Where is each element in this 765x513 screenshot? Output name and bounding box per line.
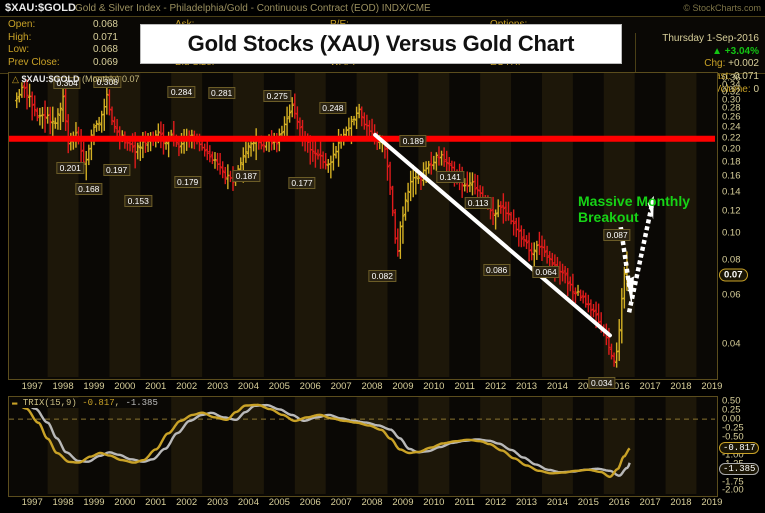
data-label: 0.179: [174, 176, 201, 188]
x-tick-label: 2008: [361, 381, 382, 392]
y-tick-label: 0.10: [722, 228, 741, 239]
x-tick-label: 2004: [238, 381, 259, 392]
data-label: 0.281: [208, 87, 235, 99]
x-tick-label: 2013: [516, 497, 537, 508]
y-tick-label: 0.04: [722, 339, 741, 350]
x-tick-label: 2017: [640, 381, 661, 392]
x-tick-label: 2016: [609, 497, 630, 508]
quote-row: Low:0.068: [8, 44, 118, 57]
data-label: 0.034: [588, 377, 615, 389]
chart-header: $XAU:$GOLD Gold & Silver Index - Philade…: [0, 0, 765, 16]
x-tick-label: 1998: [52, 497, 73, 508]
x-tick-label: 2012: [485, 497, 506, 508]
x-tick-label: 2015: [578, 497, 599, 508]
plot-label-symbol: $XAU:$GOLD: [21, 74, 79, 84]
x-tick-label: 2007: [331, 497, 352, 508]
x-tick-label: 2005: [269, 381, 290, 392]
x-tick-label: 2010: [423, 497, 444, 508]
quote-label: Low:: [8, 44, 74, 57]
x-tick-label: 2014: [547, 381, 568, 392]
quote-row: Prev Close:0.069: [8, 57, 118, 70]
y-tick-label: 0.14: [722, 187, 741, 198]
x-tick-label: 2007: [331, 381, 352, 392]
stockcharts-screenshot: $XAU:$GOLD Gold & Silver Index - Philade…: [0, 0, 765, 513]
data-label: 0.153: [125, 195, 152, 207]
quote-value: 0.071: [74, 32, 118, 45]
title-banner: Gold Stocks (XAU) Versus Gold Chart: [140, 24, 622, 64]
trix-y-tick-label: -2.00: [722, 485, 744, 496]
quote-value: 0.068: [74, 44, 118, 57]
x-tick-label: 2000: [114, 497, 135, 508]
data-label: 0.086: [483, 264, 510, 276]
percent-change: +3.04%: [725, 46, 759, 57]
trix-y-tick-label: -0.50: [722, 431, 744, 442]
data-label: 0.141: [437, 171, 464, 183]
y-tick-label: 0.06: [722, 290, 741, 301]
price-y-axis: 0.360.340.320.300.280.260.240.220.200.18…: [722, 72, 764, 378]
data-label: 0.087: [603, 229, 630, 241]
x-tick-label: 2003: [207, 497, 228, 508]
x-tick-label: 2018: [670, 497, 691, 508]
title-banner-text: Gold Stocks (XAU) Versus Gold Chart: [188, 31, 575, 57]
trix-value-2: -1.385: [125, 398, 157, 408]
x-tick-label: 1997: [22, 497, 43, 508]
y-tick-label: 0.12: [722, 206, 741, 217]
quote-row: High:0.071: [8, 32, 118, 45]
data-label: 0.248: [319, 102, 346, 114]
x-tick-label: 2010: [423, 381, 444, 392]
up-arrow-icon: ▲: [712, 46, 722, 57]
price-candles-svg: [9, 73, 715, 377]
price-chart-pane[interactable]: △ $XAU:$GOLD (Monthly) 0.07 0.3040.2010.…: [8, 72, 718, 380]
plot-label: △ $XAU:$GOLD (Monthly) 0.07: [12, 74, 140, 85]
x-tick-label: 2000: [114, 381, 135, 392]
breakout-annotation-line2: Breakout: [578, 209, 690, 225]
y-tick-label: 0.20: [722, 144, 741, 155]
x-tick-label: 1997: [22, 381, 43, 392]
trix-label: ▬ TRIX(15,9) -0.817, -1.385: [12, 398, 161, 408]
header-symbol: $XAU:$GOLD: [5, 2, 76, 14]
header-description: Gold & Silver Index - Philadelphia/Gold …: [75, 3, 431, 14]
quote-label: High:: [8, 32, 74, 45]
x-tick-label: 2013: [516, 381, 537, 392]
quote-column-1: Open:0.068High:0.071Low:0.068Prev Close:…: [8, 19, 118, 69]
x-tick-label: 1999: [83, 381, 104, 392]
data-label: 0.082: [369, 270, 396, 282]
data-label: 0.189: [400, 135, 427, 147]
x-tick-label: 2005: [269, 497, 290, 508]
data-label: 0.064: [532, 266, 559, 278]
x-tick-label: 2008: [361, 497, 382, 508]
plot-label-rest: (Monthly) 0.07: [82, 74, 140, 84]
trix-value-badge-2: -1.385: [719, 463, 759, 475]
x-tick-label: 1998: [52, 381, 73, 392]
trix-indicator-pane[interactable]: ▬ TRIX(15,9) -0.817, -1.385: [8, 396, 718, 497]
y-tick-label: 0.24: [722, 122, 741, 133]
x-tick-label: 2006: [300, 381, 321, 392]
x-tick-label: 2006: [300, 497, 321, 508]
breakout-annotation-line1: Massive Monthly: [578, 193, 690, 209]
x-tick-label: 2001: [145, 497, 166, 508]
breakout-annotation: Massive Monthly Breakout: [578, 193, 690, 225]
x-tick-label: 2019: [701, 497, 722, 508]
trix-value-1: -0.817: [82, 398, 114, 408]
data-label: 0.197: [103, 164, 130, 176]
trix-indicator-name: TRIX(15,9): [23, 398, 77, 408]
trix-lines-svg: [9, 397, 715, 494]
data-label: 0.201: [57, 162, 84, 174]
x-tick-label: 2011: [455, 381, 475, 392]
x-tick-label: 2009: [392, 381, 413, 392]
data-label: 0.177: [288, 177, 315, 189]
y-tick-label: 0.16: [722, 171, 741, 182]
y-tick-label: 0.22: [722, 132, 741, 143]
data-label: 0.284: [168, 86, 195, 98]
x-tick-label: 2002: [176, 497, 197, 508]
quote-date: Thursday 1-Sep-2016: [636, 33, 759, 46]
x-tick-label: 2017: [640, 497, 661, 508]
change-label: Chg:: [704, 58, 725, 69]
x-tick-label: 2011: [455, 497, 475, 508]
trix-value-badge-1: -0.817: [719, 442, 759, 454]
stockcharts-watermark: © StockCharts.com: [683, 3, 761, 13]
x-tick-label: 2009: [392, 497, 413, 508]
x-tick-label: 2012: [485, 381, 506, 392]
quote-row: Open:0.068: [8, 19, 118, 32]
quote-value: 0.069: [74, 57, 118, 70]
change-value: +0.002: [728, 58, 759, 69]
quote-value: 0.068: [74, 19, 118, 32]
trix-x-axis: 1997199819992000200120022003200420052006…: [8, 497, 716, 511]
data-label: 0.187: [233, 170, 260, 182]
current-price-badge: 0.07: [719, 269, 748, 282]
data-label: 0.168: [75, 183, 102, 195]
data-label: 0.113: [465, 197, 492, 209]
y-tick-label: 0.18: [722, 156, 741, 167]
quote-label: Prev Close:: [8, 57, 74, 70]
x-tick-label: 2014: [547, 497, 568, 508]
trix-legend-swatch: ▬: [12, 398, 17, 408]
x-tick-label: 2002: [176, 381, 197, 392]
x-tick-label: 2019: [701, 381, 722, 392]
quote-label: Open:: [8, 19, 74, 32]
x-tick-label: 2018: [670, 381, 691, 392]
x-tick-label: 2001: [145, 381, 166, 392]
x-tick-label: 2004: [238, 497, 259, 508]
data-label: 0.275: [264, 90, 291, 102]
x-tick-label: 1999: [83, 497, 104, 508]
y-tick-label: 0.08: [722, 255, 741, 266]
x-tick-label: 2003: [207, 381, 228, 392]
